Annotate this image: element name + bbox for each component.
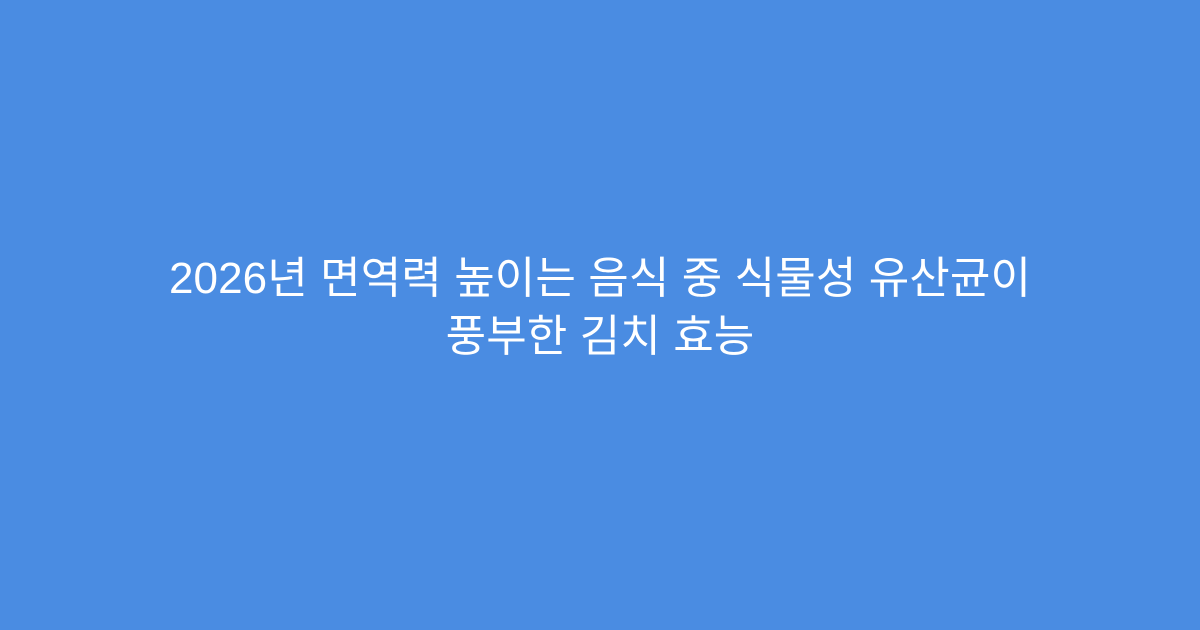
page-title: 2026년 면역력 높이는 음식 중 식물성 유산균이 풍부한 김치 효능 [70, 250, 1130, 366]
og-card: 2026년 면역력 높이는 음식 중 식물성 유산균이 풍부한 김치 효능 [0, 0, 1200, 630]
page-title-line-1: 2026년 면역력 높이는 음식 중 식물성 유산균이 [80, 250, 1120, 308]
page-title-line-2: 풍부한 김치 효능 [80, 308, 1120, 366]
